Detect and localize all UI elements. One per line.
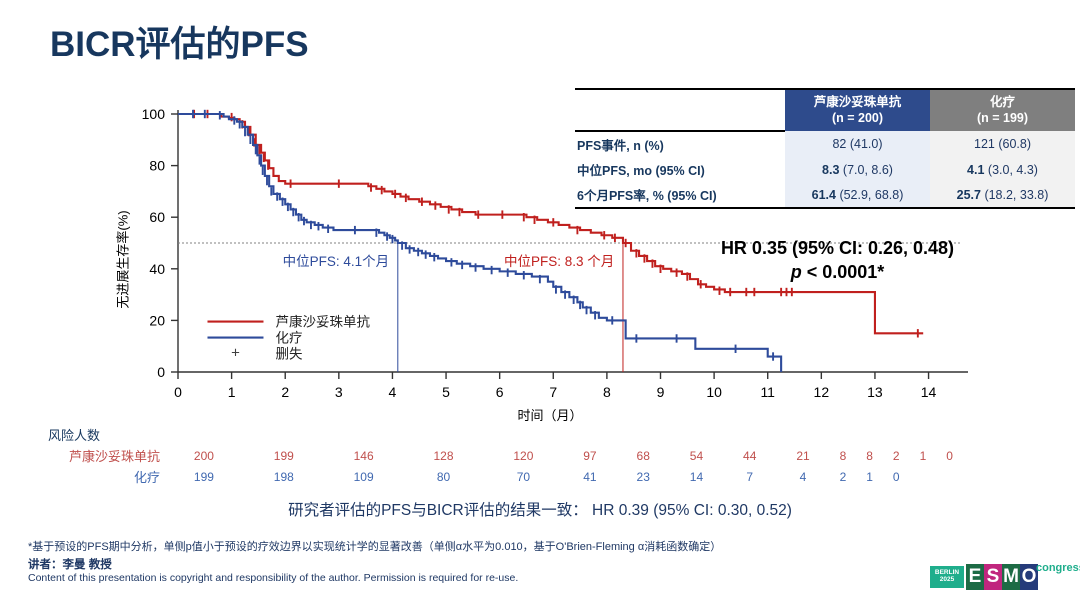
numbers-at-risk-cell: 0 (936, 445, 963, 466)
slide-root: BICR评估的PFS 02040608010001234567891011121… (0, 0, 1080, 608)
stats-row-label: 中位PFS, mo (95% CI) (575, 157, 785, 182)
x-tick-label: 12 (814, 384, 830, 400)
logo-letter-e: E (966, 564, 984, 590)
logo-berlin-year: 2025 (940, 577, 954, 584)
p-value-symbol: p (791, 262, 802, 282)
stats-cell-chemo: 25.7 (18.2, 33.8) (930, 182, 1075, 208)
numbers-at-risk-cell: 199 (244, 445, 324, 466)
x-tick-label: 8 (603, 384, 611, 400)
numbers-at-risk-table: 芦康沙妥珠单抗200199146128120976854442188210化疗1… (48, 445, 963, 487)
legend-swatch-plus: + (231, 345, 240, 362)
numbers-at-risk-cell: 0 (883, 466, 910, 487)
numbers-at-risk-cell: 2 (830, 466, 857, 487)
stats-row: 中位PFS, mo (95% CI)8.3 (7.0, 8.6)4.1 (3.0… (575, 157, 1075, 182)
stats-row-label: 6个月PFS率, % (95% CI) (575, 182, 785, 208)
numbers-at-risk-body: 芦康沙妥珠单抗200199146128120976854442188210化疗1… (48, 445, 963, 487)
stats-row: 6个月PFS率, % (95% CI)61.4 (52.9, 68.8)25.7… (575, 182, 1075, 208)
median-annotation-drug: 中位PFS: 8.3 个月 (504, 254, 614, 269)
numbers-at-risk-cell: 146 (324, 445, 404, 466)
logo-berlin-badge: BERLIN 2025 (930, 566, 964, 588)
x-axis-label: 时间（月） (460, 405, 640, 424)
y-tick-label: 0 (157, 364, 165, 380)
numbers-at-risk-cell: 68 (617, 445, 670, 466)
numbers-at-risk-cell: 128 (404, 445, 484, 466)
numbers-at-risk-cell: 120 (483, 445, 563, 466)
numbers-at-risk-cell: 199 (164, 466, 244, 487)
numbers-at-risk-cell: 1 (856, 466, 883, 487)
x-tick-label: 6 (496, 384, 504, 400)
presenter-line: 讲者：李曼 教授 (28, 556, 112, 572)
stats-col-header-drug-n: (n = 200) (791, 111, 924, 127)
x-tick-label: 2 (281, 384, 289, 400)
stats-header-row: 芦康沙妥珠单抗 (n = 200) 化疗 (n = 199) (575, 89, 1075, 131)
numbers-at-risk-cell: 14 (670, 466, 723, 487)
x-tick-label: 3 (335, 384, 343, 400)
logo-esmo-wordmark: E S M O (966, 564, 1038, 590)
stats-col-header-chemo-n: (n = 199) (936, 111, 1069, 127)
numbers-at-risk-cell: 54 (670, 445, 723, 466)
numbers-at-risk-cell: 41 (563, 466, 616, 487)
y-tick-label: 40 (149, 261, 165, 277)
x-tick-label: 5 (442, 384, 450, 400)
esmo-congress-logo: BERLIN 2025 E S M O congress (930, 562, 1065, 596)
median-annotation-chemo: 中位PFS: 4.1个月 (283, 254, 390, 269)
legend-label: 删失 (275, 347, 302, 362)
numbers-at-risk-row: 化疗199198109807041231474210 (48, 466, 963, 487)
x-tick-label: 9 (657, 384, 665, 400)
stats-cell-chemo: 121 (60.8) (930, 131, 1075, 157)
x-tick-label: 4 (389, 384, 397, 400)
numbers-at-risk-cell (910, 466, 937, 487)
numbers-at-risk-title: 风险人数 (48, 425, 1008, 444)
stats-cell-chemo: 4.1 (3.0, 4.3) (930, 157, 1075, 182)
numbers-at-risk-row-label: 化疗 (48, 466, 164, 487)
y-tick-label: 80 (149, 158, 165, 174)
consistency-statement: 研究者评估的PFS与BICR评估的结果一致： HR 0.39 (95% CI: … (0, 498, 1080, 520)
p-value-rest: < 0.0001* (802, 262, 885, 282)
p-value: p < 0.0001* (600, 260, 1075, 284)
hazard-ratio-value: HR 0.35 (95% CI: 0.26, 0.48) (600, 236, 1075, 260)
x-tick-label: 13 (867, 384, 883, 400)
numbers-at-risk-cell: 8 (830, 445, 857, 466)
stats-header-blank (575, 89, 785, 131)
numbers-at-risk-cell (936, 466, 963, 487)
stats-col-header-chemo: 化疗 (n = 199) (930, 89, 1075, 131)
x-tick-label: 0 (174, 384, 182, 400)
legend-label: 化疗 (275, 331, 302, 346)
numbers-at-risk-cell: 200 (164, 445, 244, 466)
stats-col-header-drug-name: 芦康沙妥珠单抗 (791, 95, 924, 111)
numbers-at-risk-row: 芦康沙妥珠单抗200199146128120976854442188210 (48, 445, 963, 466)
logo-letter-m: M (1002, 564, 1020, 590)
stats-cell-drug: 61.4 (52.9, 68.8) (785, 182, 930, 208)
numbers-at-risk-cell: 109 (324, 466, 404, 487)
copyright-line: Content of this presentation is copyrigh… (28, 572, 518, 584)
x-tick-label: 11 (760, 384, 775, 400)
y-axis-label: 无进展生存率(%) (113, 190, 132, 330)
numbers-at-risk-cell: 4 (776, 466, 829, 487)
numbers-at-risk-row-label: 芦康沙妥珠单抗 (48, 445, 164, 466)
numbers-at-risk-cell: 2 (883, 445, 910, 466)
logo-letter-s: S (984, 564, 1002, 590)
numbers-at-risk-cell: 1 (910, 445, 937, 466)
numbers-at-risk-cell: 21 (776, 445, 829, 466)
numbers-at-risk-cell: 8 (856, 445, 883, 466)
numbers-at-risk-cell: 70 (483, 466, 563, 487)
stats-body: PFS事件, n (%)82 (41.0)121 (60.8)中位PFS, mo… (575, 131, 1075, 208)
x-tick-label: 7 (549, 384, 557, 400)
footnote: *基于预设的PFS期中分析，单侧p值小于预设的疗效边界以实现统计学的显著改善（单… (28, 538, 1028, 554)
stats-col-header-drug: 芦康沙妥珠单抗 (n = 200) (785, 89, 930, 131)
x-tick-label: 14 (921, 384, 937, 400)
hazard-ratio-block: HR 0.35 (95% CI: 0.26, 0.48) p < 0.0001* (600, 236, 1075, 285)
y-tick-label: 60 (149, 209, 165, 225)
numbers-at-risk-cell: 80 (404, 466, 484, 487)
numbers-at-risk-cell: 7 (723, 466, 776, 487)
stats-row-label: PFS事件, n (%) (575, 131, 785, 157)
stats-table: 芦康沙妥珠单抗 (n = 200) 化疗 (n = 199) PFS事件, n … (575, 88, 1075, 209)
numbers-at-risk-cell: 198 (244, 466, 324, 487)
stats-cell-drug: 82 (41.0) (785, 131, 930, 157)
x-tick-label: 1 (228, 384, 236, 400)
chart-legend: 芦康沙妥珠单抗化疗+删失 (207, 314, 370, 362)
numbers-at-risk-cell: 23 (617, 466, 670, 487)
y-tick-label: 20 (149, 312, 165, 328)
stats-row: PFS事件, n (%)82 (41.0)121 (60.8) (575, 131, 1075, 157)
logo-congress-text: congress (1036, 562, 1080, 574)
page-title: BICR评估的PFS (50, 16, 309, 67)
numbers-at-risk: 风险人数 芦康沙妥珠单抗2001991461281209768544421882… (48, 425, 1008, 487)
stats-cell-drug: 8.3 (7.0, 8.6) (785, 157, 930, 182)
legend-label: 芦康沙妥珠单抗 (275, 314, 370, 330)
stats-col-header-chemo-name: 化疗 (936, 95, 1069, 111)
y-tick-label: 100 (142, 106, 166, 122)
x-tick-label: 10 (706, 384, 722, 400)
numbers-at-risk-cell: 44 (723, 445, 776, 466)
numbers-at-risk-cell: 97 (563, 445, 616, 466)
